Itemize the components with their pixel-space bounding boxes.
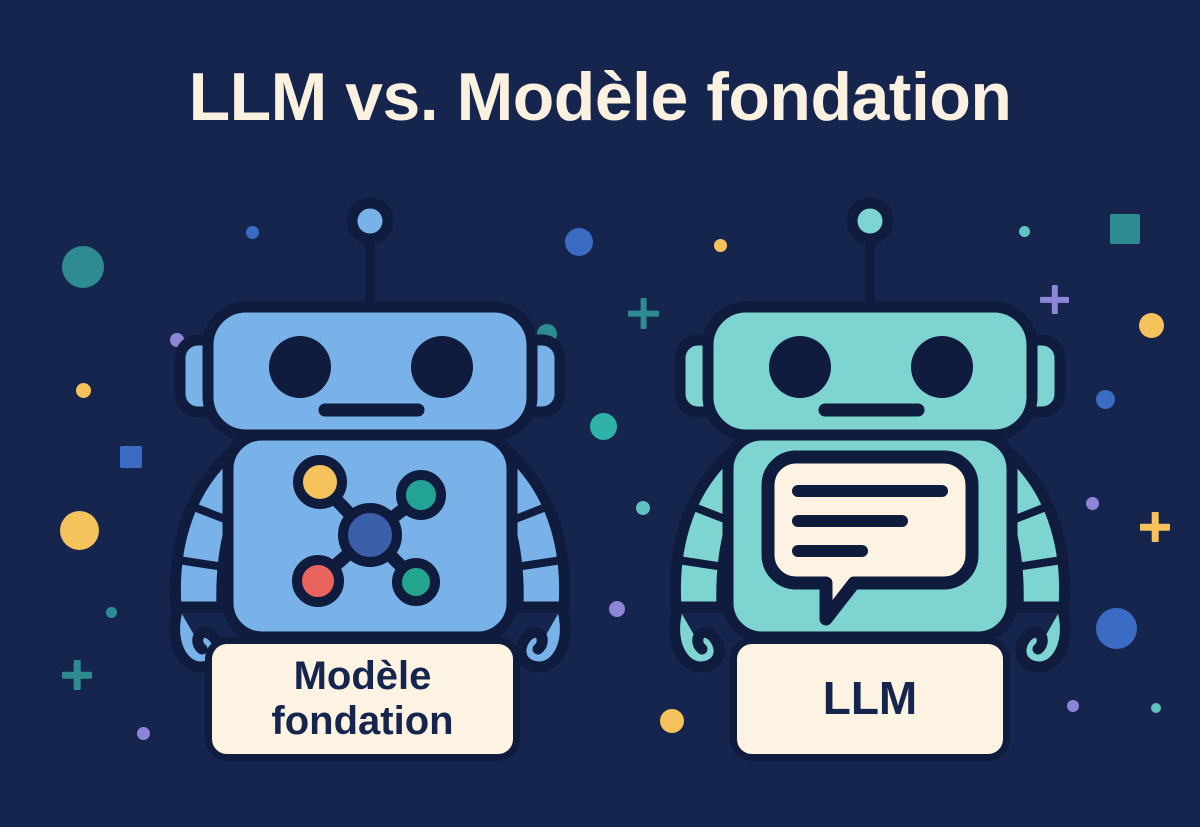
- node-green: [397, 563, 435, 601]
- deco-circle-blue-right-lg: [1096, 608, 1137, 649]
- label-line-1: Modèle: [271, 654, 453, 699]
- antenna-bulb-icon: [352, 203, 388, 239]
- deco-square-teal-right: [1110, 214, 1140, 244]
- label-card-llm: LLM: [730, 637, 1010, 761]
- deco-dot-teal-lower-rt: [1151, 703, 1161, 713]
- deco-plus-teal-left: [62, 660, 92, 690]
- deco-dot-teal-mini-left: [107, 607, 117, 617]
- eye-left: [769, 336, 831, 398]
- label-line-2: fondation: [271, 699, 453, 744]
- node-red: [297, 560, 339, 602]
- deco-circle-yellow-large: [60, 511, 99, 550]
- deco-square-blue: [120, 446, 142, 468]
- deco-dot-purple-lower-left: [137, 727, 150, 740]
- deco-dot-purple-lower-rt: [1067, 700, 1079, 712]
- eye-right: [411, 336, 473, 398]
- robot-foundation-model: [170, 195, 570, 665]
- eye-left: [269, 336, 331, 398]
- node-yellow: [298, 460, 342, 504]
- deco-circle-blue-right: [1096, 390, 1115, 409]
- eye-right: [911, 336, 973, 398]
- node-teal: [401, 475, 441, 515]
- deco-plus-teal-mid: [628, 298, 659, 329]
- page-title: LLM vs. Modèle fondation: [0, 62, 1200, 133]
- hand-left: [675, 607, 719, 667]
- poster-canvas: LLM vs. Modèle fondation: [0, 0, 1200, 827]
- deco-circle-teal-mid: [590, 413, 617, 440]
- deco-dot-purple-right: [1086, 497, 1099, 510]
- robot-llm: [670, 195, 1070, 665]
- antenna-bulb-icon: [852, 203, 888, 239]
- node-center: [343, 508, 397, 562]
- deco-circle-teal-large: [62, 246, 104, 288]
- hand-right: [1021, 607, 1065, 667]
- deco-circle-yellow-mid: [660, 709, 684, 733]
- deco-dot-teal-mid-small: [636, 501, 650, 515]
- hand-right: [521, 607, 565, 667]
- deco-dot-teal-tiny-left: [106, 607, 117, 618]
- deco-plus-yellow-right: [1140, 512, 1170, 542]
- deco-dot-purple-mid: [609, 601, 625, 617]
- deco-dot-yellow-tiny: [76, 383, 91, 398]
- label-line-1: LLM: [823, 673, 918, 725]
- label-card-foundation-model: Modèle fondation: [205, 637, 520, 761]
- deco-circle-yellow-right: [1139, 313, 1164, 338]
